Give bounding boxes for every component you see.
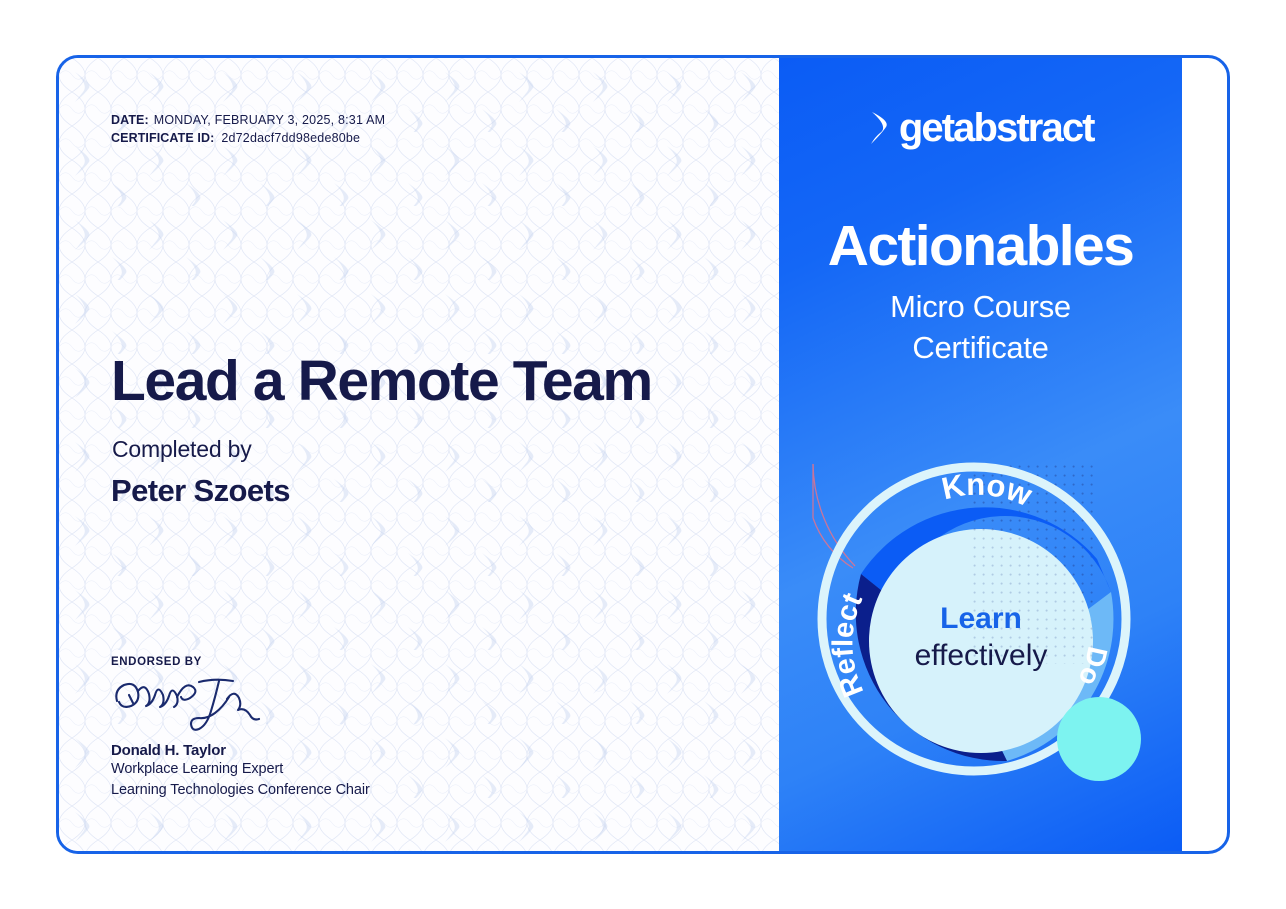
certificate-card: DATE:MONDAY, FEBRUARY 3, 2025, 8:31 AM C… — [56, 55, 1230, 854]
completed-by-label: Completed by — [112, 436, 252, 463]
certificate-id-value: 2d72dacf7dd98ede80be — [221, 131, 360, 145]
certificate-id-row: CERTIFICATE ID:2d72dacf7dd98ede80be — [111, 129, 385, 147]
subtitle-line-2: Certificate — [779, 328, 1182, 369]
course-title: Lead a Remote Team — [111, 353, 652, 410]
actionables-title: Actionables — [779, 218, 1182, 275]
chevron-icon — [867, 110, 893, 146]
endorsed-by-label: ENDORSED BY — [111, 656, 370, 668]
subtitle-line-1: Micro Course — [779, 287, 1182, 328]
endorser-role-line-1: Workplace Learning Expert — [111, 759, 370, 780]
endorser-name: Donald H. Taylor — [111, 742, 370, 759]
getabstract-logo: getabstract — [779, 106, 1182, 151]
certificate-subtitle: Micro Course Certificate — [779, 287, 1182, 369]
certificate-metadata: DATE:MONDAY, FEBRUARY 3, 2025, 8:31 AM C… — [111, 111, 385, 147]
brand-heading: Actionables Micro Course Certificate — [779, 218, 1182, 369]
issue-date-value: MONDAY, FEBRUARY 3, 2025, 8:31 AM — [154, 113, 385, 127]
accent-circle — [1057, 697, 1141, 781]
issue-date-label: DATE: — [111, 113, 149, 127]
endorsement-block: ENDORSED BY Donald H. Taylor Workplace L… — [111, 656, 370, 800]
brand-panel: getabstract Actionables Micro Course Cer… — [779, 58, 1182, 851]
certificate-paper-panel: DATE:MONDAY, FEBRUARY 3, 2025, 8:31 AM C… — [59, 58, 779, 851]
getabstract-wordmark: getabstract — [899, 106, 1094, 150]
learning-cycle-diagram: Know Do Reflect Learn effectively — [811, 456, 1151, 786]
certificate-id-label: CERTIFICATE ID: — [111, 131, 214, 145]
recipient-name: Peter Szoets — [111, 473, 290, 509]
endorser-role-line-2: Learning Technologies Conference Chair — [111, 780, 370, 801]
wheel-center-secondary: effectively — [914, 639, 1047, 672]
signature-icon — [111, 673, 271, 735]
issue-date-row: DATE:MONDAY, FEBRUARY 3, 2025, 8:31 AM — [111, 111, 385, 129]
wheel-center-primary: Learn — [940, 602, 1022, 635]
